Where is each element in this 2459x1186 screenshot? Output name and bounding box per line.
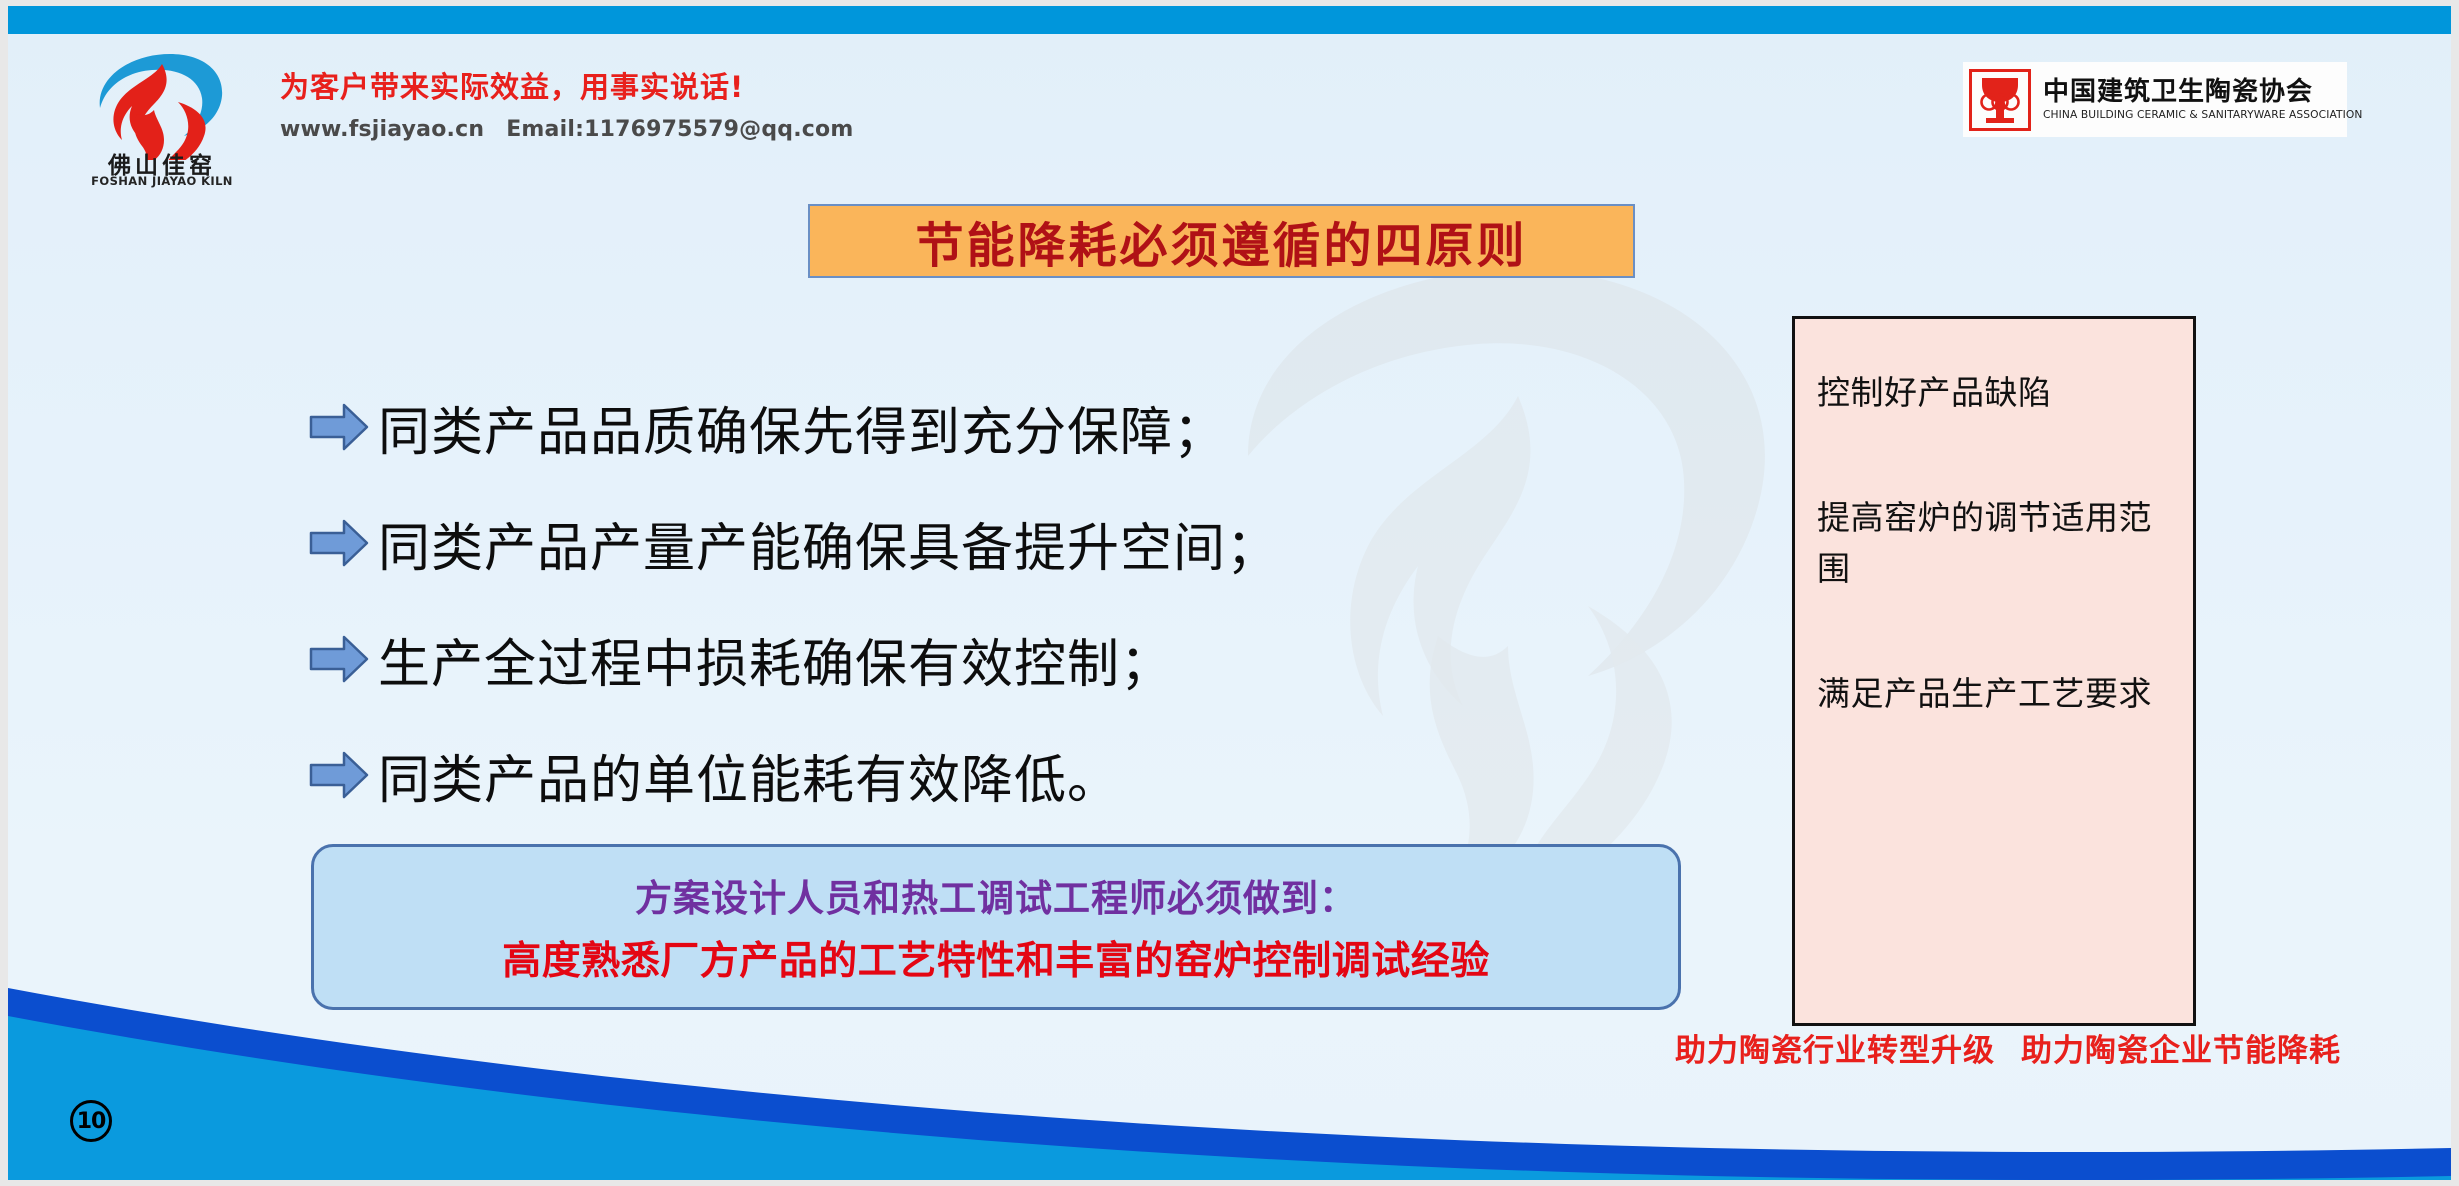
- right-arrow-icon: [308, 749, 370, 801]
- bottom-wave-decoration: [8, 970, 2451, 1180]
- list-item-label: 同类产品的单位能耗有效降低。: [378, 738, 1120, 813]
- association-name-en: CHINA BUILDING CERAMIC & SANITARYWARE AS…: [2043, 109, 2362, 121]
- list-item: 同类产品品质确保先得到充分保障；: [308, 388, 1488, 466]
- slide-canvas: 佛山佳窑 FOSHAN JIAYAO KILN 为客户带来实际效益，用事实说话!…: [8, 6, 2451, 1180]
- brand-slogan: 为客户带来实际效益，用事实说话!: [280, 64, 744, 106]
- top-accent-bar: [8, 6, 2451, 34]
- slide-title-banner: 节能降耗必须遵循的四原则: [808, 204, 1635, 278]
- brand-email: Email:1176975579@qq.com: [506, 117, 853, 142]
- brand-contact: www.fsjiayao.cnEmail:1176975579@qq.com: [280, 117, 854, 142]
- principles-list: 同类产品品质确保先得到充分保障； 同类产品产量产能确保具备提升空间； 生产全过程…: [308, 388, 1488, 852]
- brand-website: www.fsjiayao.cn: [280, 117, 484, 142]
- list-item: 生产全过程中损耗确保有效控制；: [308, 620, 1488, 698]
- slide-root: 佛山佳窑 FOSHAN JIAYAO KILN 为客户带来实际效益，用事实说话!…: [0, 0, 2459, 1186]
- page-number-badge: 10: [70, 1100, 112, 1142]
- right-arrow-icon: [308, 401, 370, 453]
- association-logo: 中国建筑卫生陶瓷协会 CHINA BUILDING CERAMIC & SANI…: [1963, 62, 2347, 137]
- list-item-label: 生产全过程中损耗确保有效控制；: [378, 622, 1173, 697]
- slide-header: 佛山佳窑 FOSHAN JIAYAO KILN 为客户带来实际效益，用事实说话!…: [8, 34, 2451, 179]
- goals-panel: 控制好产品缺陷 提高窑炉的调节适用范围 满足产品生产工艺要求: [1792, 316, 2196, 1026]
- callout-line-1: 方案设计人员和热工调试工程师必须做到：: [635, 868, 1357, 922]
- goals-panel-item: 控制好产品缺陷: [1817, 367, 2169, 418]
- goals-panel-item: 满足产品生产工艺要求: [1817, 668, 2169, 719]
- association-text: 中国建筑卫生陶瓷协会 CHINA BUILDING CERAMIC & SANI…: [2043, 79, 2372, 121]
- page-title: 节能降耗必须遵循的四原则: [915, 206, 1527, 276]
- right-arrow-icon: [308, 517, 370, 569]
- association-name-cn: 中国建筑卫生陶瓷协会: [2043, 79, 2372, 106]
- list-item-label: 同类产品品质确保先得到充分保障；: [378, 390, 1226, 465]
- goals-panel-item: 提高窑炉的调节适用范围: [1817, 492, 2169, 594]
- brand-name-en: FOSHAN JIAYAO KILN: [78, 174, 246, 188]
- china-ceramic-association-mark-icon: [1969, 69, 2031, 131]
- list-item: 同类产品的单位能耗有效降低。: [308, 736, 1488, 814]
- list-item-label: 同类产品产量产能确保具备提升空间；: [378, 506, 1279, 581]
- right-arrow-icon: [308, 633, 370, 685]
- list-item: 同类产品产量产能确保具备提升空间；: [308, 504, 1488, 582]
